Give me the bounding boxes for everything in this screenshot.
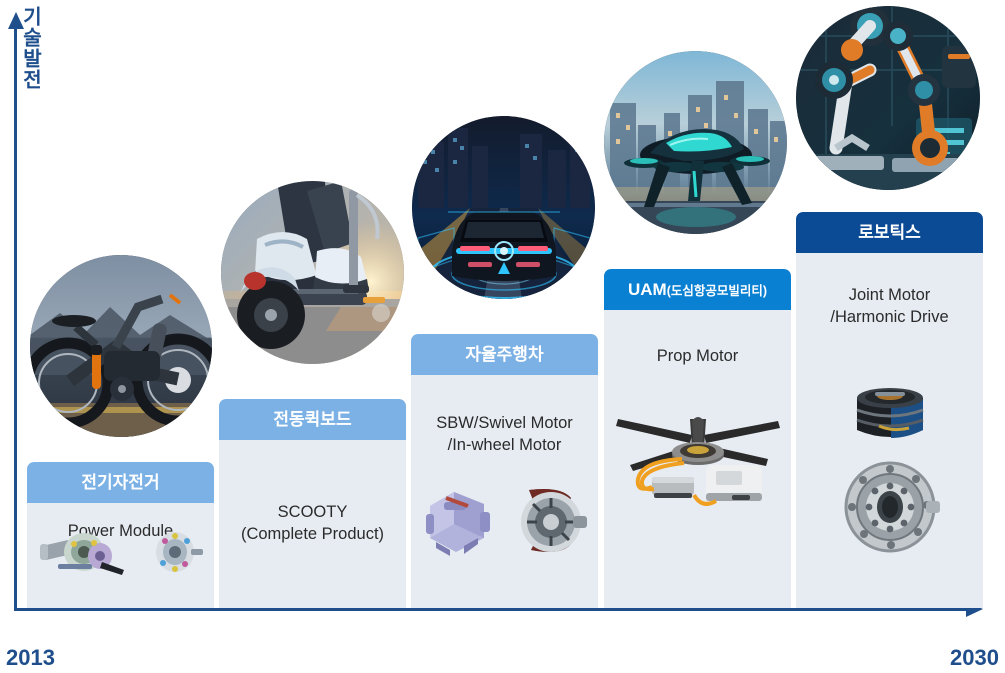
autonomous-car-photo xyxy=(412,116,595,299)
card-text-line: SBW/Swivel Motor xyxy=(417,413,592,435)
x-axis-line xyxy=(14,608,969,611)
card-title-autonomous-vehicle: 자율주행차 xyxy=(465,345,543,364)
card-text-line: Prop Motor xyxy=(610,346,785,368)
product-images-uam xyxy=(604,409,791,532)
y-axis-label: 기술발전 xyxy=(16,6,45,90)
card-header-e-scooter: 전동퀵보드 xyxy=(219,399,406,440)
prop-motor-assembly-image xyxy=(612,409,784,532)
card-text-line: Joint Motor xyxy=(802,285,977,307)
card-body-autonomous-vehicle: SBW/Swivel Motor /In-wheel Motor xyxy=(411,375,598,457)
card-body-robotics: Joint Motor /Harmonic Drive xyxy=(796,253,983,329)
card-e-scooter[interactable]: 전동퀵보드 SCOOTY (Complete Product) xyxy=(219,399,406,608)
card-title-uam: UAM xyxy=(628,280,667,299)
card-text-line: /Harmonic Drive xyxy=(802,307,977,329)
joint-motor-image xyxy=(845,380,935,455)
card-title-robotics: 로보틱스 xyxy=(858,223,921,242)
card-title-e-scooter: 전동퀵보드 xyxy=(273,410,351,429)
card-header-robotics: 로보틱스 xyxy=(796,212,983,253)
card-robotics[interactable]: 로보틱스 Joint Motor /Harmonic Drive xyxy=(796,212,983,608)
industrial-robot-photo xyxy=(796,6,980,190)
card-body-uam: Prop Motor xyxy=(604,310,791,368)
product-images-e-bike xyxy=(27,528,214,581)
card-uam[interactable]: UAM(도심항공모빌리티) Prop Motor xyxy=(604,269,791,608)
card-title-e-bike: 전기자전거 xyxy=(81,473,159,492)
card-text-line: (Complete Product) xyxy=(225,524,400,546)
card-text-line: /In-wheel Motor xyxy=(417,435,592,457)
e-bike-photo xyxy=(30,255,212,437)
power-module-gearbox-image xyxy=(38,528,130,581)
product-images-robotics xyxy=(796,380,983,558)
product-images-autonomous-vehicle xyxy=(411,484,598,565)
card-subtitle-uam: (도심항공모빌리티) xyxy=(667,284,767,298)
card-text-line: SCOOTY xyxy=(225,502,400,524)
swivel-motor-image xyxy=(420,484,498,565)
timeline-start-year: 2013 xyxy=(6,645,55,671)
card-e-bike[interactable]: 전기자전거 Power Module xyxy=(27,462,214,608)
y-axis-line xyxy=(14,28,17,610)
timeline-end-year: 2030 xyxy=(950,645,999,671)
power-module-motor-image xyxy=(149,528,203,581)
card-header-autonomous-vehicle: 자율주행차 xyxy=(411,334,598,375)
card-header-e-bike: 전기자전거 xyxy=(27,462,214,503)
card-body-e-scooter: SCOOTY (Complete Product) xyxy=(219,440,406,546)
card-autonomous-vehicle[interactable]: 자율주행차 SBW/Swivel Motor /In-wheel Motor xyxy=(411,334,598,608)
card-header-uam: UAM(도심항공모빌리티) xyxy=(604,269,791,310)
harmonic-drive-image xyxy=(796,461,983,558)
electric-scooter-photo xyxy=(221,181,404,364)
in-wheel-motor-image xyxy=(509,484,589,565)
uam-evtol-photo xyxy=(604,51,787,234)
